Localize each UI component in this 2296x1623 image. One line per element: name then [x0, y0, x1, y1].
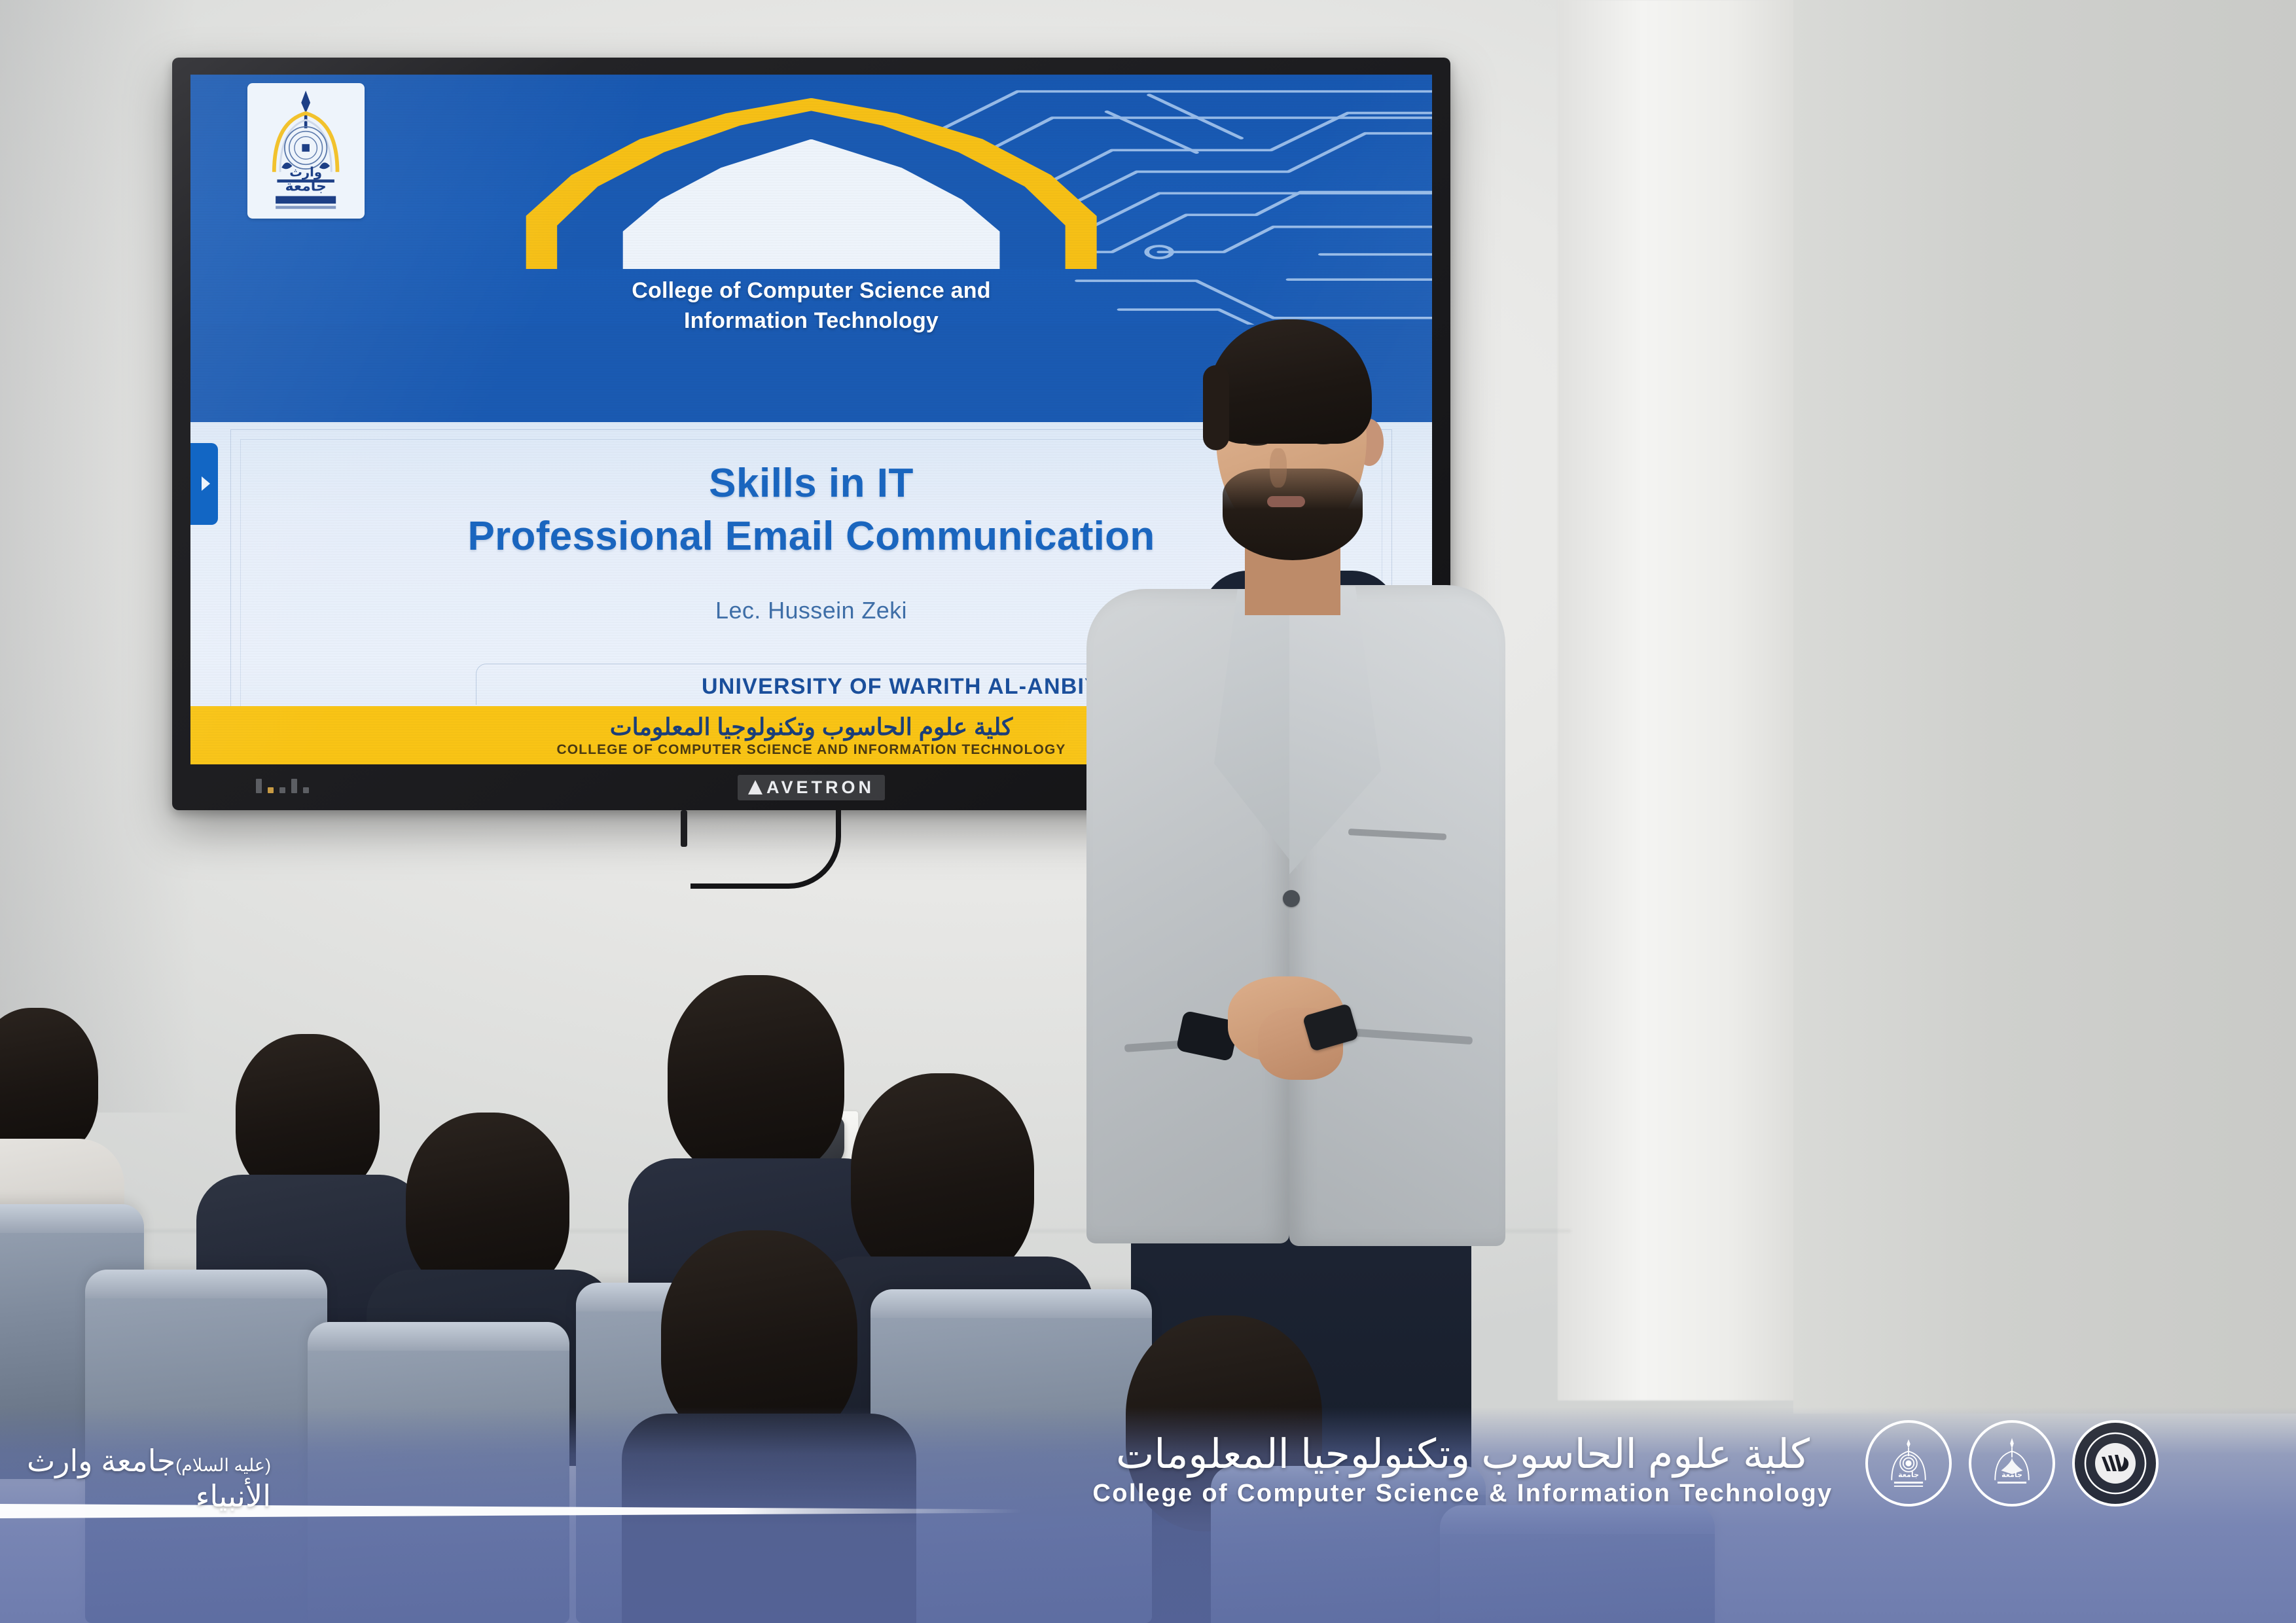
presenter-hair: [1208, 319, 1372, 444]
slide-footer-arabic: كلية علوم الحاسوب وتكنولوجيا المعلومات: [610, 713, 1013, 741]
slide-footer-english: COLLEGE OF COMPUTER SCIENCE AND INFORMAT…: [556, 742, 1066, 758]
slide-arch-decoration: [190, 75, 1432, 269]
mosque-arch-shape-icon: [526, 98, 1097, 270]
auditorium-seat-icon: [85, 1270, 327, 1623]
display-brand-plate: AVETRON: [738, 775, 885, 800]
audience-head: [668, 975, 844, 1178]
svg-text:وارث: وارث: [290, 164, 323, 179]
triangle-a-icon: [748, 780, 762, 794]
auditorium-seat-icon: [1440, 1505, 1715, 1623]
presenter-mouth: [1267, 496, 1305, 507]
audience-head: [0, 1008, 98, 1158]
audience-head: [851, 1073, 1034, 1283]
lecture-photo-stage: College of Computer Science and Informat…: [0, 0, 2296, 1623]
presenter-nose: [1270, 448, 1287, 488]
audience-head: [236, 1034, 380, 1198]
university-seal-icon: وارث جامعة: [247, 83, 364, 219]
display-brand-name: AVETRON: [766, 777, 874, 798]
display-hanging-cable: [691, 810, 841, 889]
svg-text:جامعة: جامعة: [285, 178, 327, 194]
audience-shoulders: [622, 1414, 916, 1623]
auditorium-seat-icon: [308, 1322, 569, 1623]
wall-right-surface: [1793, 0, 2296, 1414]
chevron-right-icon: [190, 443, 218, 525]
wall-column-right: [1558, 0, 1800, 1400]
presenter-blazer-button: [1283, 890, 1300, 907]
audience-head: [406, 1113, 569, 1296]
wall-shadow-left: [0, 0, 196, 1113]
presenter-beard: [1223, 469, 1363, 560]
slide-header-line-1: College of Computer Science and: [190, 276, 1432, 306]
slide-header-line-2: Information Technology: [190, 306, 1432, 336]
slide-college-header: College of Computer Science and Informat…: [190, 276, 1432, 336]
university-of-warith-al-anbiyaa-logo: وارث جامعة: [247, 83, 364, 219]
audience-group: [0, 1008, 1571, 1623]
display-cable-mount: [681, 810, 687, 847]
